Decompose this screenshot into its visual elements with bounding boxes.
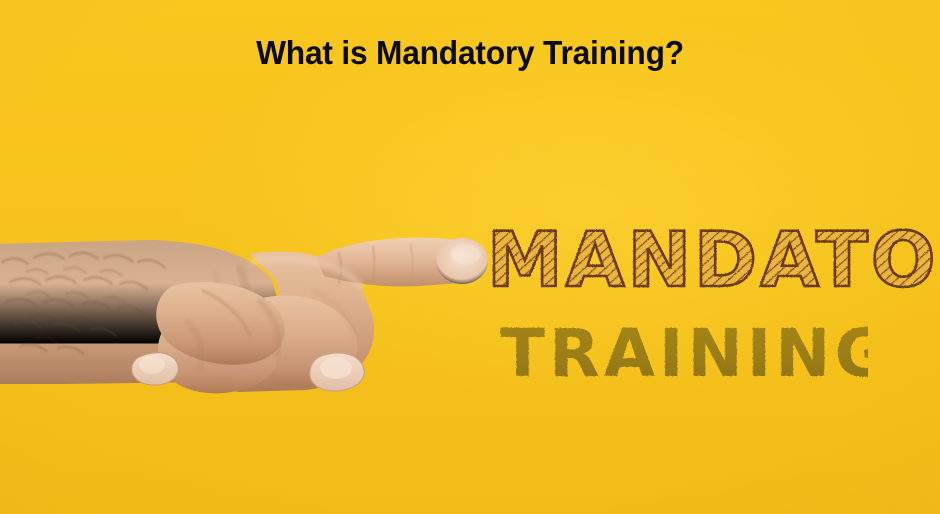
word-mandatory: MANDATORY: [487, 214, 933, 306]
word-mandatory-text: MANDATORY: [487, 215, 933, 304]
word-training-text: TRAINING: [500, 315, 868, 392]
page-title: What is Mandatory Training?: [19, 34, 921, 72]
word-training: TRAINING: [500, 314, 868, 392]
slide-canvas: What is Mandatory Training?: [0, 0, 940, 514]
pointing-hand-graphic: [0, 228, 500, 404]
